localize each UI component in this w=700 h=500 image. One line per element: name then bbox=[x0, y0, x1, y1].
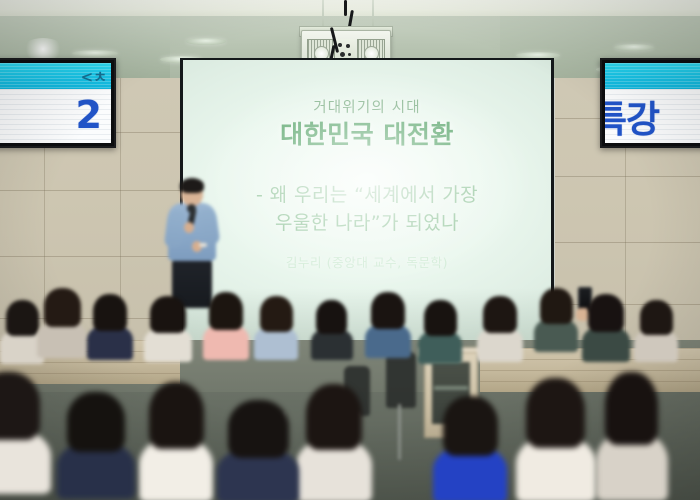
presenter-hair bbox=[180, 178, 204, 193]
attendee-hair bbox=[540, 288, 573, 324]
monitor-banner bbox=[605, 63, 700, 89]
projector-knob-icon bbox=[340, 52, 345, 57]
slide-credit: 김누리 (중앙대 교수, 독문학) bbox=[183, 252, 551, 271]
presenter-hand-left bbox=[184, 222, 194, 233]
attendee-mid-right-5 bbox=[534, 288, 578, 350]
projector-knob-icon bbox=[348, 53, 351, 56]
slide-body-line-2: 우울한 나라”가 되었나 bbox=[183, 210, 551, 238]
attendee-hair bbox=[588, 294, 624, 332]
attendee-mid-center-2 bbox=[203, 292, 249, 358]
attendee-hair bbox=[640, 300, 673, 335]
attendee-mid-right-1 bbox=[311, 300, 353, 358]
attendee-far-right bbox=[596, 372, 668, 498]
attendee-mid-center-1 bbox=[144, 296, 192, 360]
attendee-hair bbox=[6, 300, 39, 336]
slide-body: - 왜 우리는 “세계에서 가장 우울한 나라”가 되었나 bbox=[183, 182, 551, 237]
attendee-mid-right-2 bbox=[365, 292, 411, 356]
monitor-left-big-text: 2 bbox=[76, 93, 101, 137]
slide-eyebrow: 거대위기의 시대 bbox=[183, 96, 551, 117]
slide-body-line-1: - 왜 우리는 “세계에서 가장 bbox=[183, 182, 551, 210]
attendee-hair bbox=[605, 372, 658, 445]
side-monitor-right[interactable]: 특강 bbox=[600, 58, 700, 148]
projector-cable bbox=[344, 0, 347, 16]
downlight-icon bbox=[186, 38, 226, 45]
attendee-mid-left-2 bbox=[37, 288, 87, 356]
attendee-mid-center-3 bbox=[254, 296, 298, 358]
presenter-wristband bbox=[199, 243, 207, 247]
attendee-hair bbox=[93, 294, 127, 331]
lectern-shelf bbox=[434, 386, 468, 390]
attendee-right-long-hair bbox=[139, 382, 213, 498]
monitor-left-banner-text: <ㅊ bbox=[81, 66, 107, 87]
attendee-hair bbox=[0, 372, 40, 440]
lecture-hall-photo: <ㅊ 2 특강 거대위기의 시대 대한민국 대전환 - 왜 우리는 “세계에서 … bbox=[0, 0, 700, 500]
chair-leg bbox=[398, 404, 401, 460]
attendee-dark-shirt bbox=[57, 392, 135, 496]
attendee-ponytail bbox=[296, 384, 372, 498]
ceiling-light-glare bbox=[22, 38, 64, 60]
downlight-icon bbox=[72, 50, 118, 57]
downlight-icon bbox=[614, 44, 654, 51]
attendee-hair bbox=[371, 292, 405, 329]
attendee-hair bbox=[316, 300, 347, 334]
attendee-hair bbox=[67, 392, 125, 452]
attendee-right-foreground bbox=[516, 378, 596, 498]
attendee-mid-right-4 bbox=[477, 296, 523, 360]
projector-knob-icon bbox=[346, 44, 350, 48]
side-monitor-right-screen: 특강 bbox=[605, 63, 700, 143]
monitor-right-big-text: 특강 bbox=[605, 89, 659, 143]
attendee-hair bbox=[306, 384, 362, 450]
attendee-hair bbox=[526, 378, 585, 448]
attendee-hair bbox=[483, 296, 517, 333]
attendee-hair bbox=[149, 382, 204, 449]
attendee-mid-right-6 bbox=[582, 294, 630, 360]
attendee-mid-left-3 bbox=[87, 294, 133, 358]
side-monitor-left[interactable]: <ㅊ 2 bbox=[0, 58, 116, 148]
attendee-hair bbox=[424, 300, 457, 336]
attendee-mid-right-3 bbox=[418, 300, 462, 362]
attendee-hair bbox=[150, 296, 186, 333]
attendee-hair bbox=[228, 400, 289, 458]
attendee-hair bbox=[260, 296, 293, 332]
attendee-long-hair-left bbox=[0, 372, 51, 490]
slide-title: 대한민국 대전환 bbox=[183, 115, 551, 151]
attendee-center-back bbox=[217, 400, 299, 500]
projector-knob-icon bbox=[338, 43, 342, 47]
attendee-blue-jacket bbox=[433, 396, 507, 500]
attendee-hair bbox=[443, 396, 498, 456]
attendee-hair bbox=[44, 288, 81, 327]
chair-back bbox=[386, 352, 416, 408]
side-monitor-left-screen: <ㅊ 2 bbox=[0, 63, 111, 143]
attendee-hair bbox=[209, 292, 243, 330]
microphone-capsule-icon bbox=[187, 204, 196, 213]
attendee-mid-right-7 bbox=[634, 300, 678, 360]
